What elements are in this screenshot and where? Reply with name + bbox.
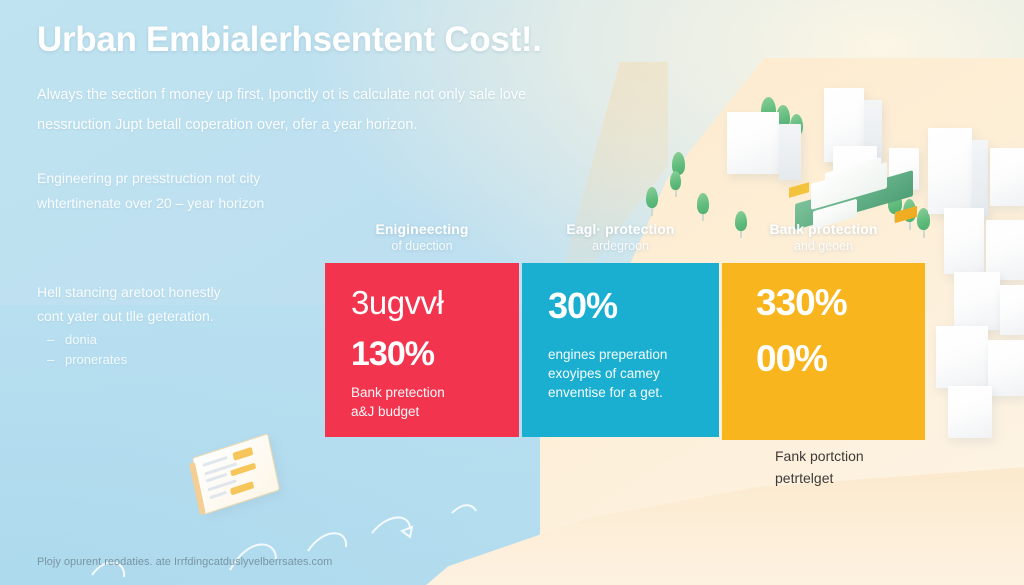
note-line-2: whtertinenate over 20 – year horizon: [37, 191, 367, 216]
card-header-subtitle: of duection: [325, 238, 519, 255]
building-block: [1000, 285, 1024, 335]
note-block-1: Engineering pr presstruction not city wh…: [37, 166, 367, 216]
building-block: [986, 220, 1024, 280]
card-header-title: Eagl· protection: [522, 220, 719, 238]
scene-city-label-sub: and geoen: [722, 238, 925, 255]
stat-caption-line-3: enventise for a get.: [548, 383, 697, 402]
building-block: [936, 326, 988, 388]
card-header-subtitle: ardegroon: [522, 238, 719, 255]
caption-line-1: Fank portction: [775, 445, 955, 467]
tree-icon: [646, 187, 658, 215]
building-block: [727, 112, 779, 174]
note2-line-1: Hell stancing aretoot honestly: [37, 280, 337, 304]
lede-line-1: Always the section f money up first, Ipo…: [37, 80, 637, 110]
stat-card-engineering[interactable]: 3ugvvł 130% Bank pretection a&J budget: [325, 263, 519, 437]
stat-caption-line-2: exoyipes of camey: [548, 364, 697, 383]
building-block: [948, 386, 992, 438]
note-bullet-list: donia pronerates: [37, 330, 337, 370]
stat-caption-line-2: a&J budget: [351, 402, 497, 421]
stat-caption-line-1: Bank pretection: [351, 383, 497, 402]
card-header-eagl-protection: Eagl· protection ardegroon: [522, 220, 719, 255]
stat-value-percent: 30%: [548, 285, 697, 327]
card-header-title: Enigineecting: [325, 220, 519, 238]
scene-city-label: Bank protection and geoen: [722, 220, 925, 255]
bank-building-illustration: [795, 165, 923, 227]
list-item: pronerates: [37, 350, 337, 370]
footer-text: Plojy opurent reodaties. ate Irrfdingcat…: [37, 556, 332, 568]
stat-value-percent-secondary: 00%: [756, 337, 903, 381]
list-item: donia: [37, 330, 337, 350]
page-title: Urban Embialerhsentent Cost!.: [37, 20, 737, 60]
stat-value-primary: 3ugvvł: [351, 283, 497, 323]
scene-city-label-title: Bank protection: [722, 220, 925, 238]
caption-line-2: petrtelget: [775, 467, 955, 489]
building-block: [944, 208, 984, 274]
lede-paragraph: Always the section f money up first, Ipo…: [37, 80, 637, 140]
building-block: [990, 148, 1024, 206]
note-block-2: Hell stancing aretoot honestly cont yate…: [37, 280, 337, 370]
note2-line-2: cont yater out tlle geteration.: [37, 304, 337, 328]
note-line-1: Engineering pr presstruction not city: [37, 166, 367, 191]
tree-icon: [697, 193, 709, 220]
building-block: [928, 128, 972, 214]
bank-protection-caption: Fank portction petrtelget: [775, 445, 955, 489]
building-block: [954, 272, 1000, 330]
card-header-engineering: Enigineecting of duection: [325, 220, 519, 255]
tree-icon: [670, 171, 681, 196]
stat-card-bank-protection[interactable]: 330% 00%: [722, 263, 925, 440]
infographic-canvas: Bank protection and geoen Urban Embialer…: [0, 0, 1024, 585]
building-block: [972, 140, 988, 216]
stat-value-percent: 330%: [756, 281, 903, 325]
stat-card-eagl-protection[interactable]: 30% engines preperation exoyipes of came…: [522, 263, 719, 437]
lede-line-2: nessruction Jupt betall coperation over,…: [37, 110, 637, 140]
building-block: [988, 340, 1024, 396]
stat-caption-line-1: engines preperation: [548, 345, 697, 364]
stat-value-percent: 130%: [351, 335, 497, 373]
